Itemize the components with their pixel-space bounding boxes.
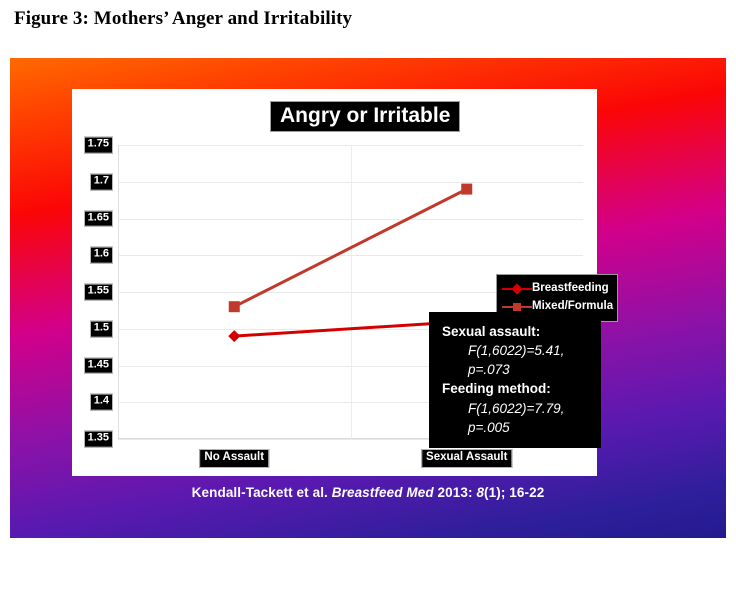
slide-gradient-frame: Angry or Irritable 1.751.71.651.61.551.5… — [10, 58, 726, 538]
legend-label-breastfeeding: Breastfeeding — [532, 282, 609, 295]
stats-sexual-assault-heading: Sexual assault: — [442, 322, 591, 341]
chart-title: Angry or Irritable — [270, 101, 460, 132]
statistics-annotation: Sexual assault: F(1,6022)=5.41, p=.073 F… — [429, 312, 601, 448]
citation-journal: Breastfeed Med — [332, 485, 434, 500]
stats-feeding-method-f: F(1,6022)=7.79, — [442, 399, 591, 418]
stats-feeding-method-p: p=.005 — [442, 418, 591, 437]
x-axis-category-2: Sexual Assault — [421, 449, 512, 468]
y-axis-tick-1.35: 1.35 — [84, 431, 113, 448]
y-axis-tick-1.65: 1.65 — [84, 210, 113, 227]
data-point-mixed-formula-2 — [461, 184, 472, 195]
x-axis-category-1: No Assault — [199, 449, 269, 468]
y-axis-tick-1.4: 1.4 — [90, 394, 113, 411]
citation-volume: 8 — [476, 485, 484, 500]
stats-sexual-assault-f: F(1,6022)=5.41, — [442, 341, 591, 360]
figure-caption: Figure 3: Mothers’ Anger and Irritabilit… — [14, 8, 352, 30]
citation-issue-pages: (1); 16-22 — [484, 485, 544, 500]
y-axis-tick-1.5: 1.5 — [90, 320, 113, 337]
citation-authors: Kendall-Tackett et al. — [192, 485, 332, 500]
legend-item-breastfeeding: Breastfeeding — [502, 280, 611, 298]
y-axis-tick-1.75: 1.75 — [84, 137, 113, 154]
data-point-breastfeeding-1 — [228, 330, 240, 342]
citation-year: 2013: — [434, 485, 477, 500]
legend-marker-diamond-icon — [502, 282, 532, 296]
stats-sexual-assault-p: p=.073 — [442, 360, 591, 379]
stats-feeding-method-heading: Feeding method: — [442, 379, 591, 398]
citation-text: Kendall-Tackett et al. Breastfeed Med 20… — [10, 485, 726, 500]
data-point-mixed-formula-1 — [229, 301, 240, 312]
y-axis-tick-1.55: 1.55 — [84, 284, 113, 301]
y-axis-tick-1.45: 1.45 — [84, 357, 113, 374]
y-axis-tick-1.6: 1.6 — [90, 247, 113, 264]
series-line-mixed-formula — [234, 189, 467, 307]
y-axis-tick-1.7: 1.7 — [90, 173, 113, 190]
